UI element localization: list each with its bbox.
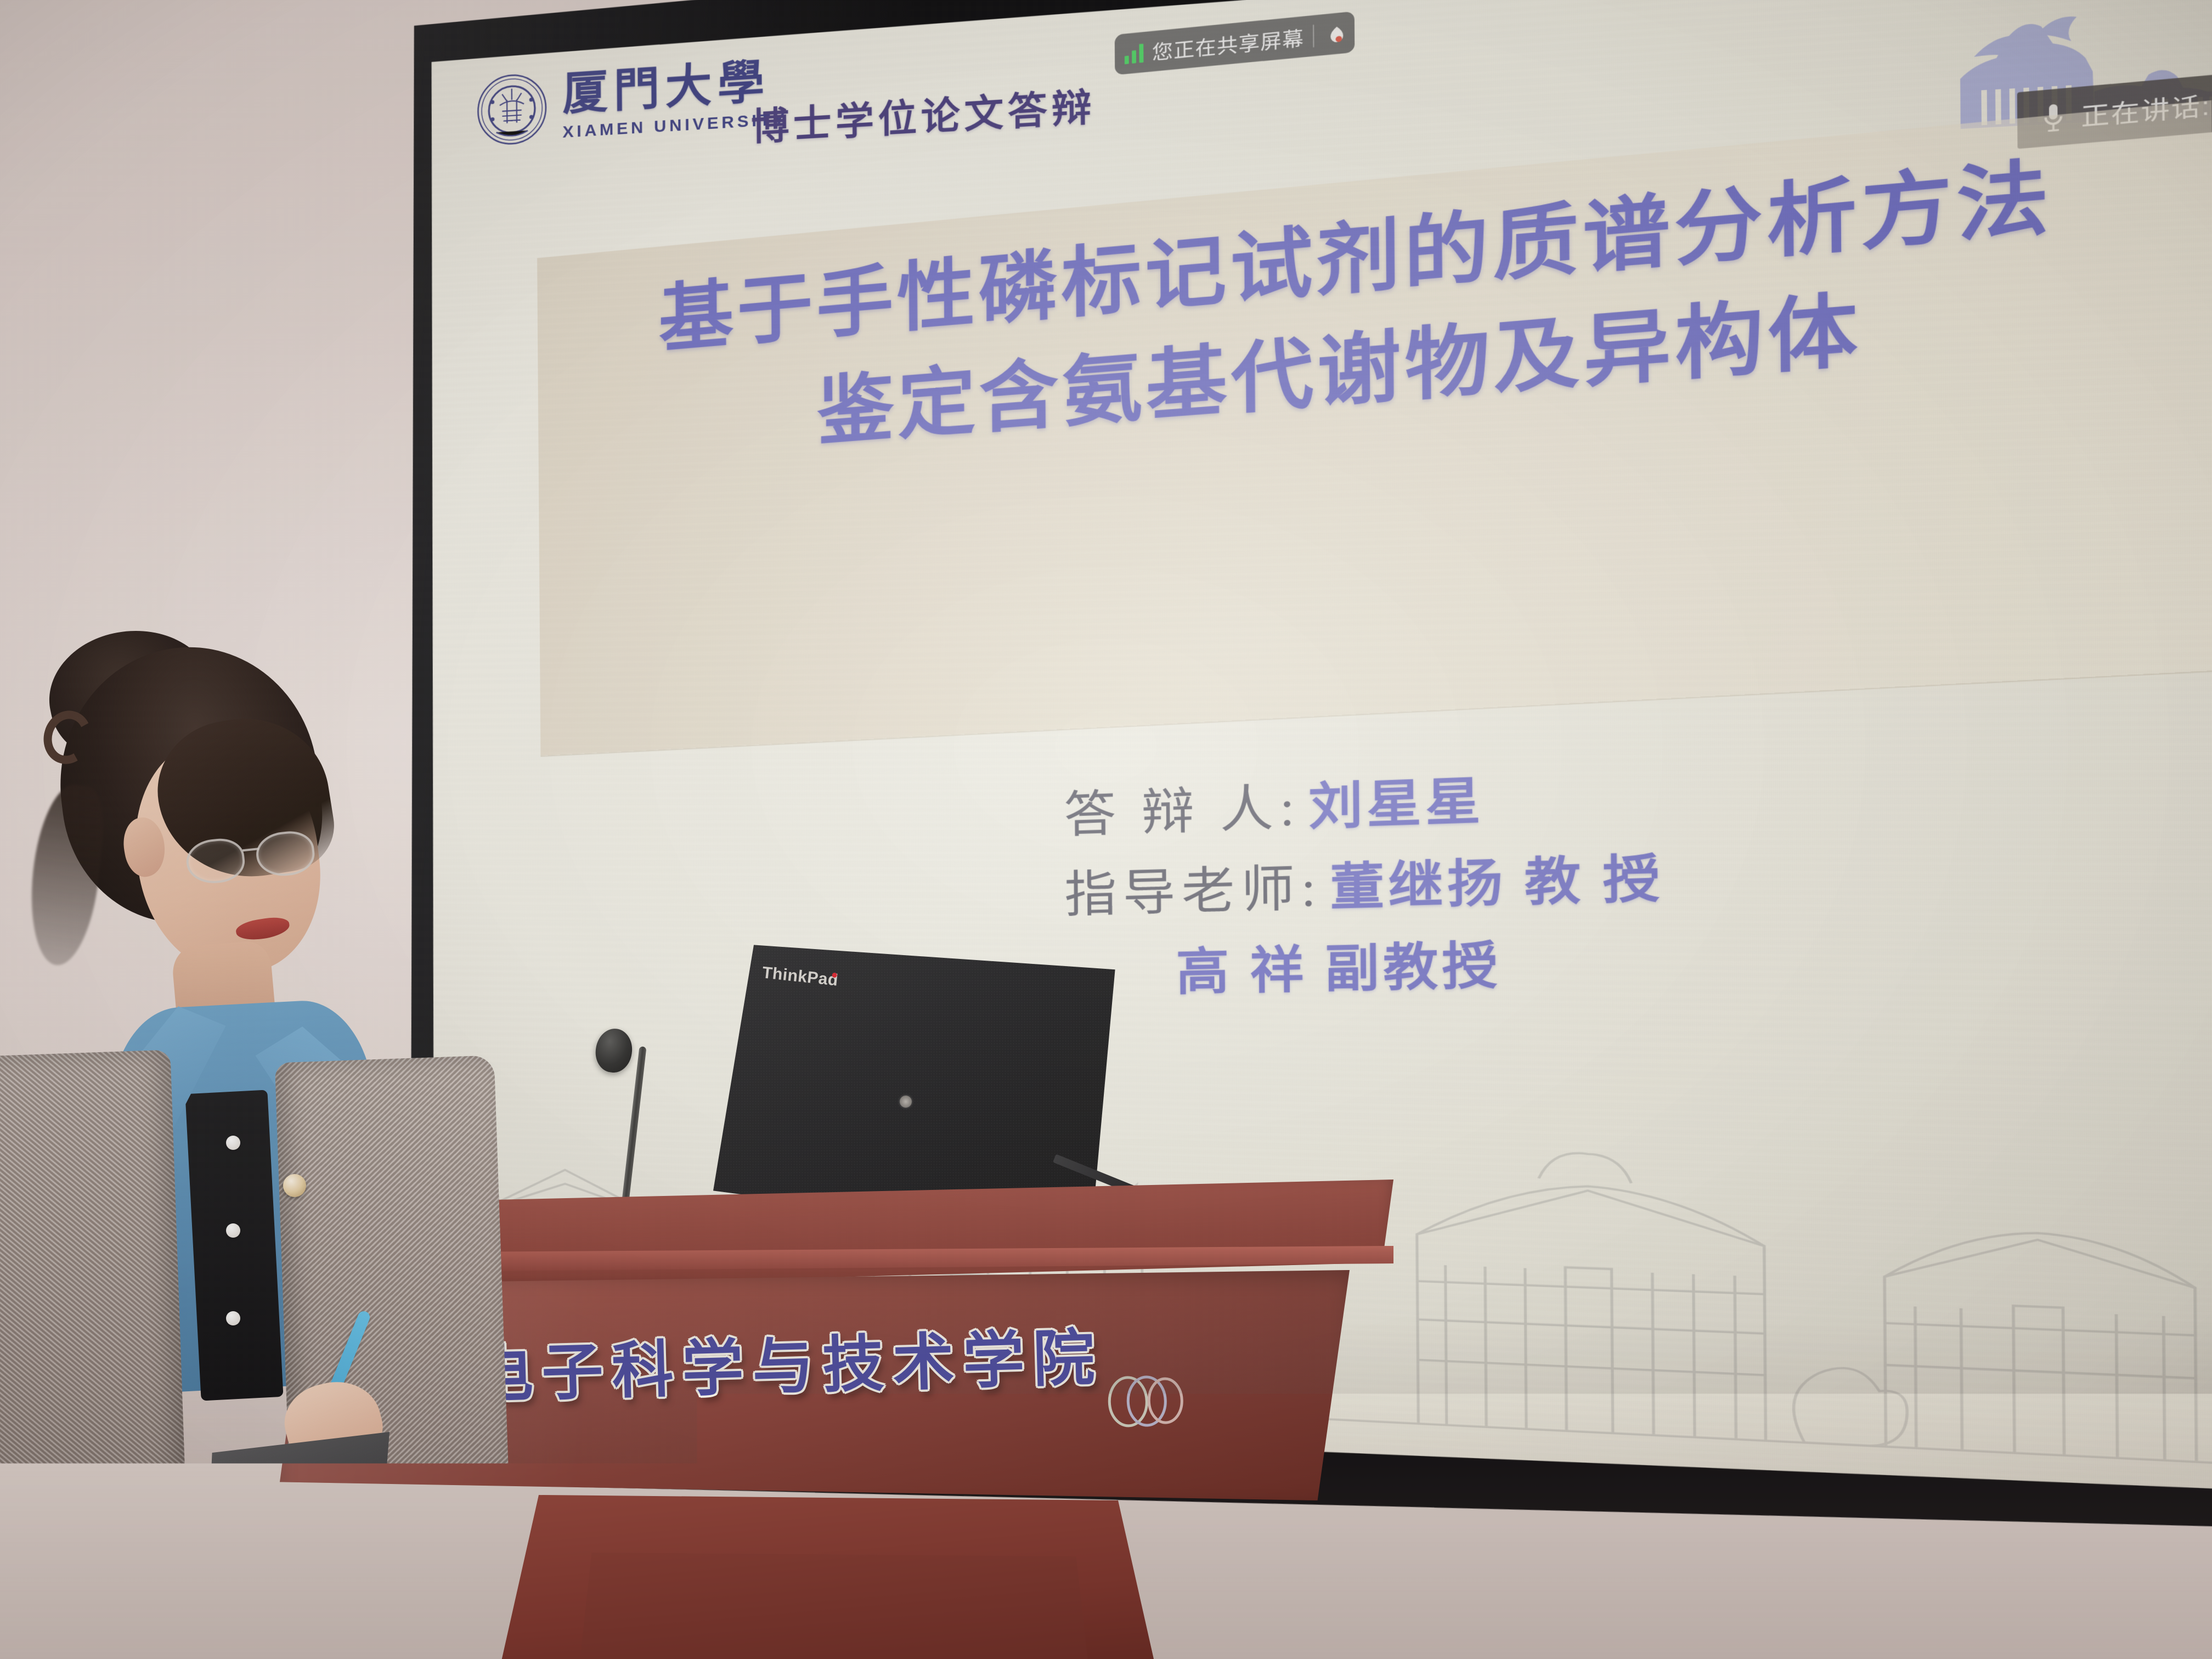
advisor-label: 指导老师: xyxy=(1064,858,1323,926)
shirt-button xyxy=(226,1223,240,1238)
screen-share-label: 您正在共享屏幕 xyxy=(1152,22,1304,66)
pill-divider xyxy=(1313,25,1314,47)
defense-type-label: 博士学位论文答辩 xyxy=(751,76,1096,151)
presenter xyxy=(0,620,516,1659)
credits-block: 答 辩 人: 刘星星 指导老师: 董继扬 教 授 高 祥 副教授 xyxy=(1064,764,1665,1025)
screen-share-indicator[interactable]: 您正在共享屏幕 xyxy=(1114,12,1355,75)
advisor-1-name: 董继扬 教 授 xyxy=(1330,848,1664,919)
lens-left xyxy=(184,836,247,886)
advisor-2-name: 高 祥 副教授 xyxy=(1176,935,1502,1003)
shirt-button xyxy=(226,1136,240,1150)
brooch xyxy=(283,1174,306,1197)
credit-row-presenter: 答 辩 人: 刘星星 xyxy=(1064,764,1663,846)
skirt xyxy=(0,1547,414,1659)
credit-row-advisor-2: 高 祥 副教授 xyxy=(1169,932,1664,1003)
university-brand-block: 厦門大學 XIAMEN UNIVERSITY xyxy=(475,55,788,149)
shirt-button xyxy=(226,1311,240,1325)
podium-base-lower xyxy=(571,1553,1097,1659)
hair-strand xyxy=(24,782,108,969)
presenter-label: 答 辩 人: xyxy=(1064,777,1301,846)
lens-right xyxy=(254,829,317,879)
xiamen-university-seal-icon xyxy=(475,71,548,149)
signal-bars-icon xyxy=(1124,43,1143,65)
tablet-device xyxy=(208,1432,390,1536)
photo-scene: 厦門大學 XIAMEN UNIVERSITY 博士学位论文答辩 xyxy=(0,0,2212,1659)
presenter-name: 刘星星 xyxy=(1308,771,1485,838)
stop-share-icon[interactable] xyxy=(1323,23,1344,46)
credit-row-advisor-1: 指导老师: 董继扬 教 授 xyxy=(1064,848,1664,926)
school-emblem-icon xyxy=(1102,1353,1192,1437)
